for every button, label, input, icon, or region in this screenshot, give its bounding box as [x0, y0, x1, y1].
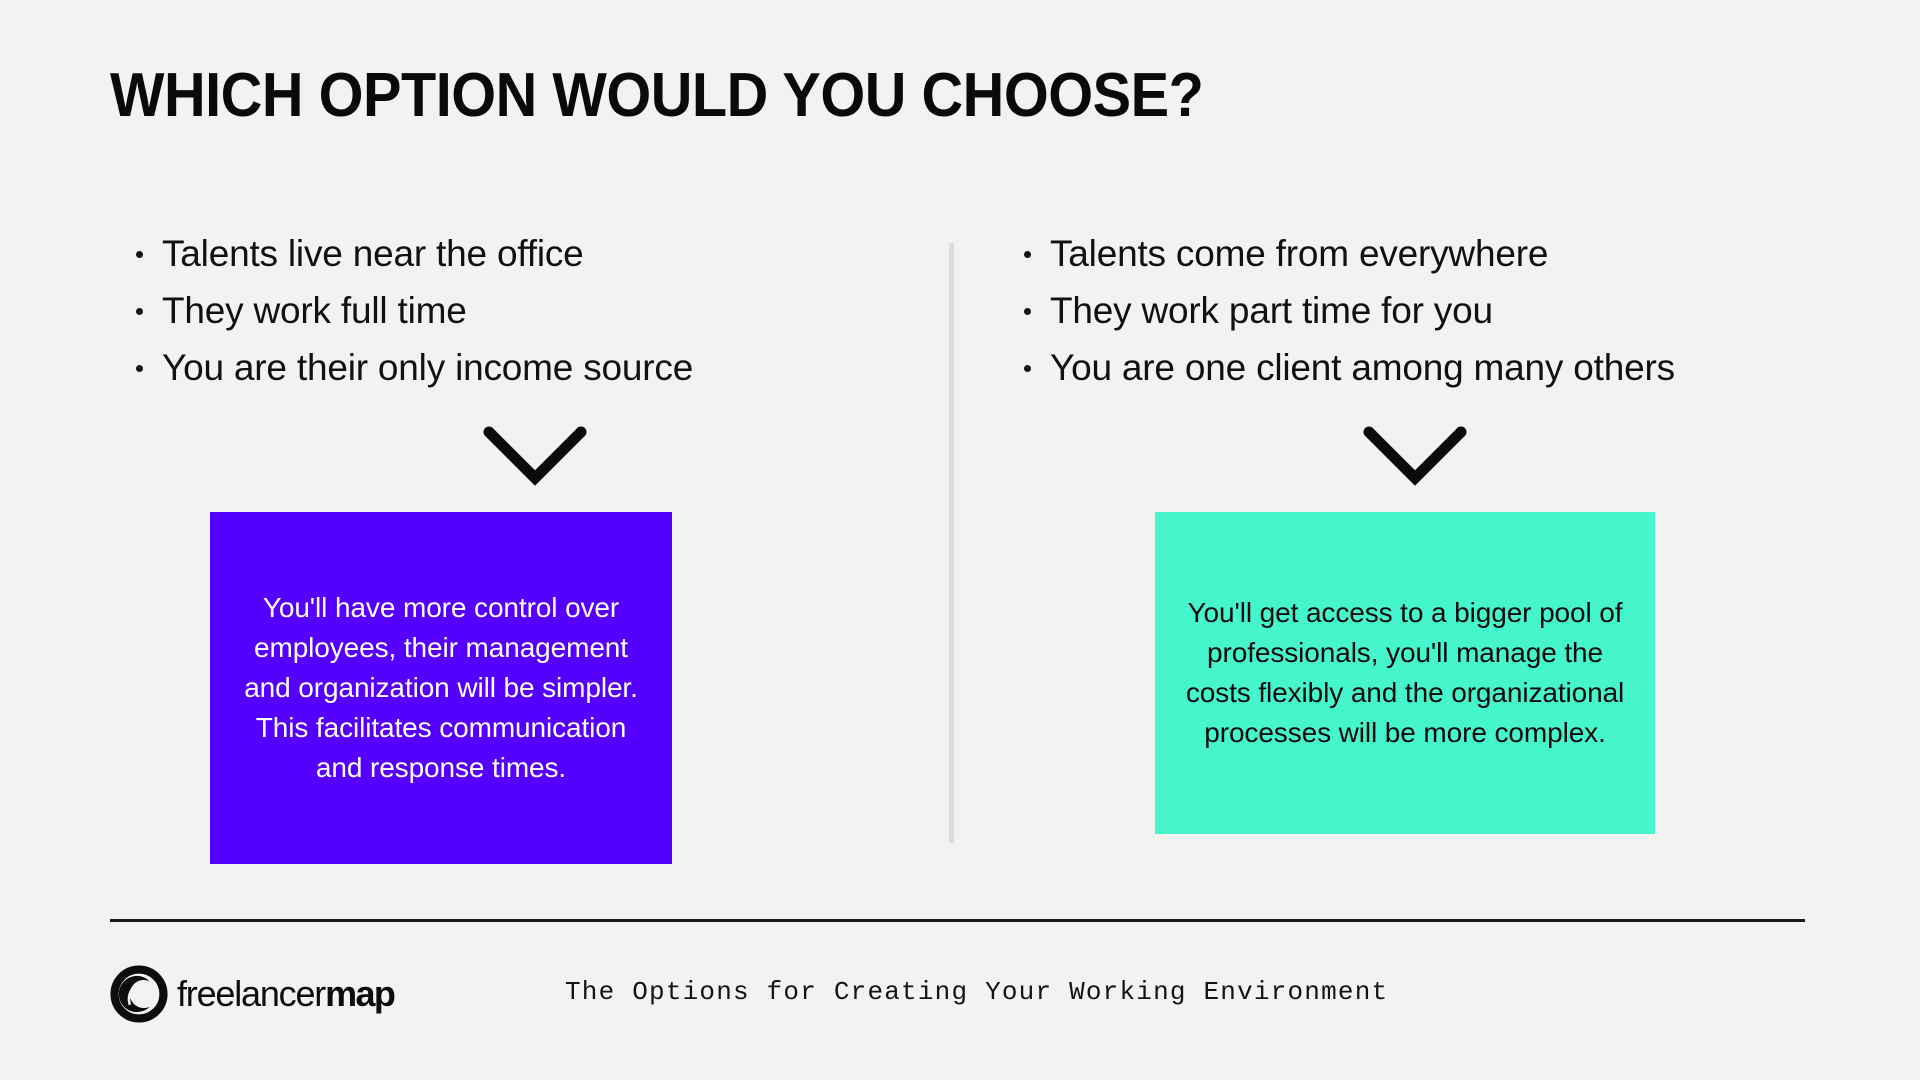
bullet-label: You are their only income source [162, 347, 693, 388]
list-item: They work part time for you [1018, 282, 1820, 339]
bullet-label: They work part time for you [1050, 290, 1493, 331]
bullet-dot-icon [136, 365, 143, 372]
bullet-label: You are one client among many others [1050, 347, 1675, 388]
list-item: Talents come from everywhere [1018, 225, 1820, 282]
comparison-columns: Talents live near the office They work f… [0, 225, 1920, 865]
bullet-list-left: Talents live near the office They work f… [130, 225, 940, 396]
brand-name-light: freelancer [177, 973, 325, 1014]
brand-logo: freelancermap [110, 965, 394, 1023]
arrow-container-left [130, 426, 1120, 486]
bullet-dot-icon [136, 251, 143, 258]
bullet-label: Talents come from everywhere [1050, 233, 1548, 274]
bullet-dot-icon [1024, 251, 1031, 258]
bullet-label: They work full time [162, 290, 467, 331]
footer-caption: The Options for Creating Your Working En… [565, 977, 1388, 1007]
list-item: You are one client among many others [1018, 339, 1820, 396]
column-divider [949, 243, 954, 843]
list-item: They work full time [130, 282, 940, 339]
footer: freelancermap The Options for Creating Y… [110, 965, 1810, 1035]
chevron-down-icon [483, 426, 587, 486]
brand-name: freelancermap [177, 976, 394, 1012]
bullet-dot-icon [1024, 308, 1031, 315]
chevron-down-icon [1363, 426, 1467, 486]
option-column-right: Talents come from everywhere They work p… [1010, 225, 1820, 834]
list-item: Talents live near the office [130, 225, 940, 282]
page-title: WHICH OPTION WOULD YOU CHOOSE? [110, 60, 1203, 131]
bullet-label: Talents live near the office [162, 233, 584, 274]
bullet-dot-icon [1024, 365, 1031, 372]
brand-name-bold: map [325, 973, 394, 1014]
bullet-list-right: Talents come from everywhere They work p… [1018, 225, 1820, 396]
result-text: You'll get access to a bigger pool of pr… [1185, 593, 1625, 753]
result-box-left: You'll have more control over employees,… [210, 512, 672, 864]
result-text: You'll have more control over employees,… [240, 588, 642, 788]
freelancermap-aperture-logo-icon [110, 965, 168, 1023]
footer-divider [110, 919, 1805, 922]
bullet-dot-icon [136, 308, 143, 315]
option-column-left: Talents live near the office They work f… [130, 225, 940, 864]
arrow-container-right [1010, 426, 1920, 486]
list-item: You are their only income source [130, 339, 940, 396]
result-box-right: You'll get access to a bigger pool of pr… [1155, 512, 1655, 834]
